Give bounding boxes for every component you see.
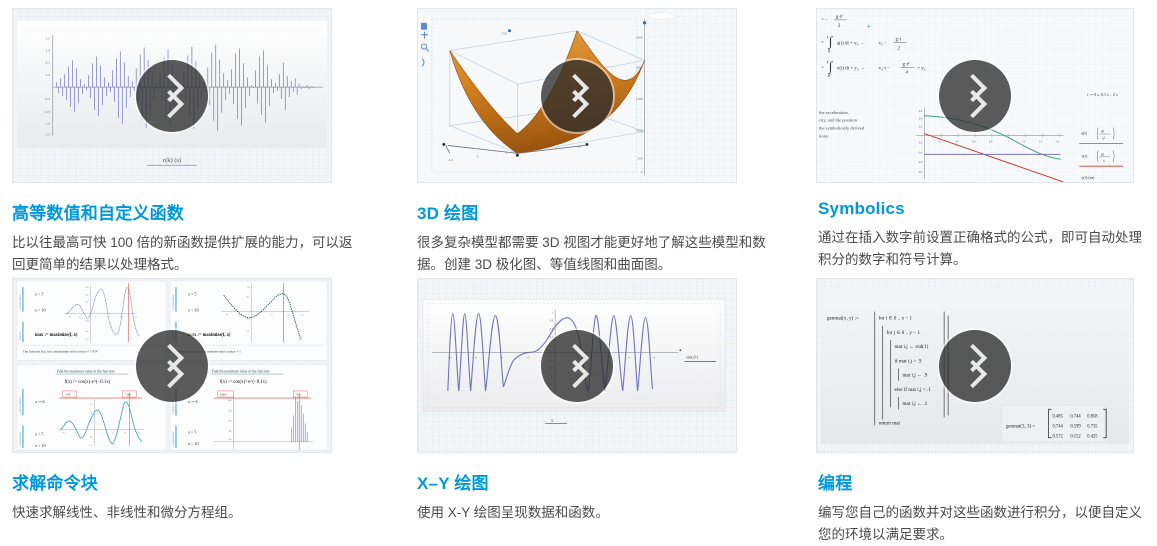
code-line-1: genmat(x, y) := bbox=[827, 315, 859, 322]
code-line-9: return mat bbox=[879, 420, 901, 426]
svg-text:5: 5 bbox=[555, 146, 557, 150]
thumbnail-xy-plots[interactable]: 10.80.6 0.40.2 -0.2-0.4 -0.6-0.8-1 -10-8… bbox=[417, 278, 737, 453]
svg-text:v₀·t −: v₀·t − bbox=[879, 66, 890, 71]
code-line-6: mat i,j ← .9 bbox=[902, 373, 927, 379]
svg-text:-8: -8 bbox=[63, 433, 65, 435]
card-description-solve-blocks: 快速求解线性、非线性和微分方程组。 bbox=[12, 502, 364, 524]
svg-text:0.2: 0.2 bbox=[46, 73, 50, 77]
panel3-label-constraints: Constraints bbox=[18, 431, 22, 446]
thumbnail-advanced-numerics[interactable]: 1.51.0 0.50.2 -0.2-0.5 -1.0-1.5 r(k) (s) bbox=[12, 8, 332, 183]
svg-text:0.4: 0.4 bbox=[955, 140, 959, 143]
feature-card-programming: genmat(x, y) := for i ∈ 0 .. x − 1 for j… bbox=[810, 270, 1157, 530]
svg-text:v₀ −: v₀ − bbox=[879, 42, 887, 47]
play-icon[interactable] bbox=[136, 330, 208, 402]
panel4-guess: x := 6 bbox=[188, 399, 198, 404]
svg-text:250: 250 bbox=[501, 32, 507, 36]
card-title-programming[interactable]: 编程 bbox=[818, 469, 852, 494]
svg-text:g·t²: g·t² bbox=[902, 61, 910, 67]
svg-text:0.5: 0.5 bbox=[90, 420, 92, 422]
svg-text:74.01: 74.01 bbox=[295, 393, 301, 396]
svg-text:1.2: 1.2 bbox=[1022, 140, 1026, 143]
matrix-r1c3: 0.858 bbox=[1087, 413, 1098, 418]
svg-text:v(t) dt + y₀ →: v(t) dt + y₀ → bbox=[837, 66, 865, 71]
svg-text:-0.4: -0.4 bbox=[918, 151, 923, 154]
panel2-statement: max := maximize(f, x) bbox=[188, 332, 231, 337]
panel2-constraint-1: x > 5 bbox=[188, 291, 197, 296]
code-line-4: mat i,j ← rnd(1) bbox=[895, 343, 929, 350]
panel1-statement: max := maximize(f, x) bbox=[35, 332, 78, 337]
play-icon[interactable] bbox=[136, 60, 208, 132]
play-icon[interactable] bbox=[541, 60, 613, 132]
svg-text:1000: 1000 bbox=[636, 129, 643, 133]
feature-card-solve-blocks: Constraints x > 5 x < 10 Solver max := m… bbox=[0, 270, 405, 530]
svg-text:0.4: 0.4 bbox=[919, 118, 923, 121]
matrix-r3c3: 0.425 bbox=[1087, 434, 1098, 439]
card-title-xy-plots[interactable]: X–Y 绘图 bbox=[417, 469, 489, 494]
card-title-symbolics[interactable]: Symbolics bbox=[818, 199, 905, 219]
svg-text:-4: -4 bbox=[75, 433, 77, 435]
svg-text:a(t) dt + v₀ →: a(t) dt + v₀ → bbox=[837, 42, 865, 47]
svg-text:0.0001: 0.0001 bbox=[220, 393, 228, 396]
card-description-programming: 编写您自己的函数并对这些函数进行积分，以便自定义您的环境以满足要求。 bbox=[818, 502, 1150, 546]
panel4-constraint-1: x > 5 bbox=[188, 430, 197, 435]
matrix-r1c1: 0.485 bbox=[1053, 413, 1064, 418]
svg-text:0.2: 0.2 bbox=[938, 140, 942, 143]
svg-text:v(t): v(t) bbox=[1081, 153, 1088, 158]
panel4-formula: f(x) := cos(x)²·e^(−0.1x) bbox=[220, 379, 267, 385]
play-icon[interactable] bbox=[541, 330, 613, 402]
svg-text:0.8: 0.8 bbox=[989, 140, 993, 143]
panel3-label-guess: Guess Values bbox=[18, 396, 22, 413]
svg-text:g·t²: g·t² bbox=[836, 14, 844, 20]
svg-text:600: 600 bbox=[229, 420, 232, 422]
svg-text:a(t): a(t) bbox=[1081, 131, 1087, 136]
svg-text:0.8: 0.8 bbox=[550, 319, 554, 323]
card-title-3d-plots[interactable]: 3D 绘图 bbox=[417, 199, 478, 224]
svg-text:-0.2: -0.2 bbox=[918, 141, 923, 144]
panel3-constraint-1: x > 5 bbox=[35, 432, 44, 437]
svg-text:-0.5: -0.5 bbox=[45, 110, 51, 114]
svg-text:=: = bbox=[821, 65, 824, 70]
svg-text:-0.6: -0.6 bbox=[918, 161, 923, 164]
svg-text:1000: 1000 bbox=[228, 400, 232, 402]
svg-text:=: = bbox=[821, 41, 824, 46]
svg-text:-0.5: -0.5 bbox=[89, 437, 92, 439]
matrix-r2c1: 0.744 bbox=[1053, 424, 1064, 429]
card-description-xy-plots: 使用 X-Y 绘图呈现数据和函数。 bbox=[417, 502, 769, 524]
panel4-constraint-2: x < 10 bbox=[188, 441, 199, 446]
panel1-constraint-2: x < 10 bbox=[35, 308, 46, 313]
svg-text:1.4: 1.4 bbox=[1039, 140, 1043, 143]
svg-text:800: 800 bbox=[229, 410, 232, 412]
result-label: genmat(3, 3) = bbox=[1006, 425, 1036, 430]
svg-text:0.5: 0.5 bbox=[46, 60, 50, 64]
panel2-label-constraints: Constraints bbox=[171, 294, 175, 310]
svg-text:0.2: 0.2 bbox=[86, 301, 89, 303]
thumbnail-solve-blocks[interactable]: Constraints x > 5 x < 10 Solver max := m… bbox=[12, 278, 332, 453]
play-icon[interactable] bbox=[939, 60, 1011, 132]
code-line-5: if mat i,j > .9 bbox=[895, 357, 922, 364]
svg-text:g·t: g·t bbox=[896, 38, 902, 43]
svg-text:200: 200 bbox=[229, 439, 232, 441]
svg-text:14: 14 bbox=[138, 433, 140, 435]
svg-text:-5: -5 bbox=[476, 154, 479, 158]
svg-text:-0.2: -0.2 bbox=[45, 97, 51, 101]
panel1-label-solver: Solver bbox=[18, 331, 22, 340]
svg-text:1.0: 1.0 bbox=[90, 412, 92, 414]
svg-text:= −: = − bbox=[821, 18, 828, 23]
svg-text:1.5: 1.5 bbox=[46, 37, 50, 41]
svg-text:2000: 2000 bbox=[636, 65, 643, 69]
thumbnail-symbolics[interactable]: = −g·t² 2 = t0 ∫ a(t) dt + v₀ → v₀ − g·t… bbox=[816, 8, 1134, 183]
svg-text:500: 500 bbox=[638, 156, 643, 160]
svg-text:0: 0 bbox=[505, 150, 507, 154]
feature-card-grid: 1.51.0 0.50.2 -0.2-0.5 -1.0-1.5 r(k) (s)… bbox=[0, 0, 1157, 530]
feature-card-symbolics: = −g·t² 2 = t0 ∫ a(t) dt + v₀ → v₀ − g·t… bbox=[810, 0, 1157, 270]
panel4-label-constraints: Constraints bbox=[171, 431, 175, 446]
matrix-r3c2: 0.152 bbox=[1070, 434, 1081, 439]
svg-text:-1.2: -1.2 bbox=[85, 339, 88, 341]
panel3-constraint-2: x < 10 bbox=[35, 443, 46, 448]
svg-text:1.0: 1.0 bbox=[46, 49, 50, 53]
svg-text:+ y₀: + y₀ bbox=[917, 66, 926, 71]
svg-text:y(t) (m): y(t) (m) bbox=[1081, 175, 1095, 180]
card-title-advanced-numerics[interactable]: 高等数值和自定义函数 bbox=[12, 199, 184, 224]
feature-card-3d-plots: -10-5 0510 250 25002000 15001000 5000 bbox=[405, 0, 810, 270]
svg-text:-10: -10 bbox=[448, 355, 452, 359]
svg-text:2: 2 bbox=[94, 317, 95, 319]
svg-text:2500: 2500 bbox=[636, 36, 643, 40]
matrix-r3c1: 0.572 bbox=[1053, 434, 1064, 439]
card-description-symbolics: 通过在插入数字前设置正确格式的公式，即可自动处理积分的数字和符号计算。 bbox=[818, 227, 1150, 271]
svg-text:7.963: 7.963 bbox=[125, 393, 131, 396]
panel4-heading: Find the maximum value of the function bbox=[212, 370, 270, 374]
code-line-2: for i ∈ 0 .. x − 1 bbox=[879, 315, 913, 322]
svg-text:1500: 1500 bbox=[636, 97, 643, 101]
matrix-r2c2: 0.599 bbox=[1070, 424, 1081, 429]
panel2-constraint-2: x < 10 bbox=[188, 308, 199, 313]
svg-text:2: 2 bbox=[257, 315, 258, 317]
svg-text:0.6: 0.6 bbox=[972, 140, 976, 143]
axis-label: r(k) (s) bbox=[163, 157, 181, 164]
svg-text:1.478: 1.478 bbox=[65, 393, 71, 396]
panel3-formula: f(x) := cos(x)·e^(−0.1x) bbox=[65, 380, 111, 385]
panel3-heading: Find the maximum value of the function bbox=[57, 370, 115, 374]
matrix-r2c3: 0.735 bbox=[1087, 424, 1098, 429]
code-line-3: for j ∈ 0 .. y − 1 bbox=[887, 329, 921, 336]
svg-text:0.6: 0.6 bbox=[550, 327, 554, 331]
card-title-solve-blocks[interactable]: 求解命令块 bbox=[12, 469, 98, 494]
svg-text:-1.0: -1.0 bbox=[45, 122, 51, 126]
thumbnail-programming[interactable]: genmat(x, y) := for i ∈ 0 .. x − 1 for j… bbox=[816, 278, 1134, 453]
svg-text:1.6: 1.6 bbox=[1055, 140, 1059, 143]
svg-text:0.2: 0.2 bbox=[919, 126, 923, 129]
svg-text:-1.5: -1.5 bbox=[45, 133, 51, 137]
note-line-4: tions. bbox=[819, 134, 829, 139]
code-line-7: else if mat i,j < .1 bbox=[895, 386, 932, 393]
svg-text:-1.0: -1.0 bbox=[89, 445, 92, 447]
svg-text:-0.8: -0.8 bbox=[918, 171, 923, 174]
play-icon[interactable] bbox=[939, 330, 1011, 402]
legend-label: sin(x²) bbox=[686, 354, 698, 359]
panel3-guess: x := 6 bbox=[35, 399, 45, 404]
thumbnail-3d-plots[interactable]: -10-5 0510 250 25002000 15001000 5000 bbox=[417, 8, 737, 183]
svg-text:1.5: 1.5 bbox=[90, 404, 92, 406]
matrix-r1c2: 0.744 bbox=[1070, 413, 1081, 418]
svg-text:0.6: 0.6 bbox=[919, 110, 923, 113]
svg-text:10: 10 bbox=[124, 433, 126, 435]
note-line-3: the symbolically derived bbox=[819, 126, 865, 131]
feature-card-advanced-numerics: 1.51.0 0.50.2 -0.2-0.5 -1.0-1.5 r(k) (s)… bbox=[0, 0, 405, 270]
panel1-label-constraints: Constraints bbox=[18, 294, 22, 310]
svg-text:2: 2 bbox=[100, 433, 101, 435]
svg-text:6: 6 bbox=[112, 433, 113, 435]
panel1-constraint-1: x > 5 bbox=[35, 291, 44, 296]
panel1-result: The function f(x) has a maximum value at… bbox=[23, 349, 98, 353]
svg-text:10: 10 bbox=[577, 144, 581, 148]
feature-card-xy-plots: 10.80.6 0.40.2 -0.2-0.4 -0.6-0.8-1 -10-8… bbox=[405, 270, 810, 530]
svg-text:-10: -10 bbox=[448, 158, 453, 162]
svg-text:+: + bbox=[867, 22, 872, 31]
code-line-8: mat i,j ← .1 bbox=[902, 401, 927, 407]
svg-text:400: 400 bbox=[229, 431, 232, 433]
